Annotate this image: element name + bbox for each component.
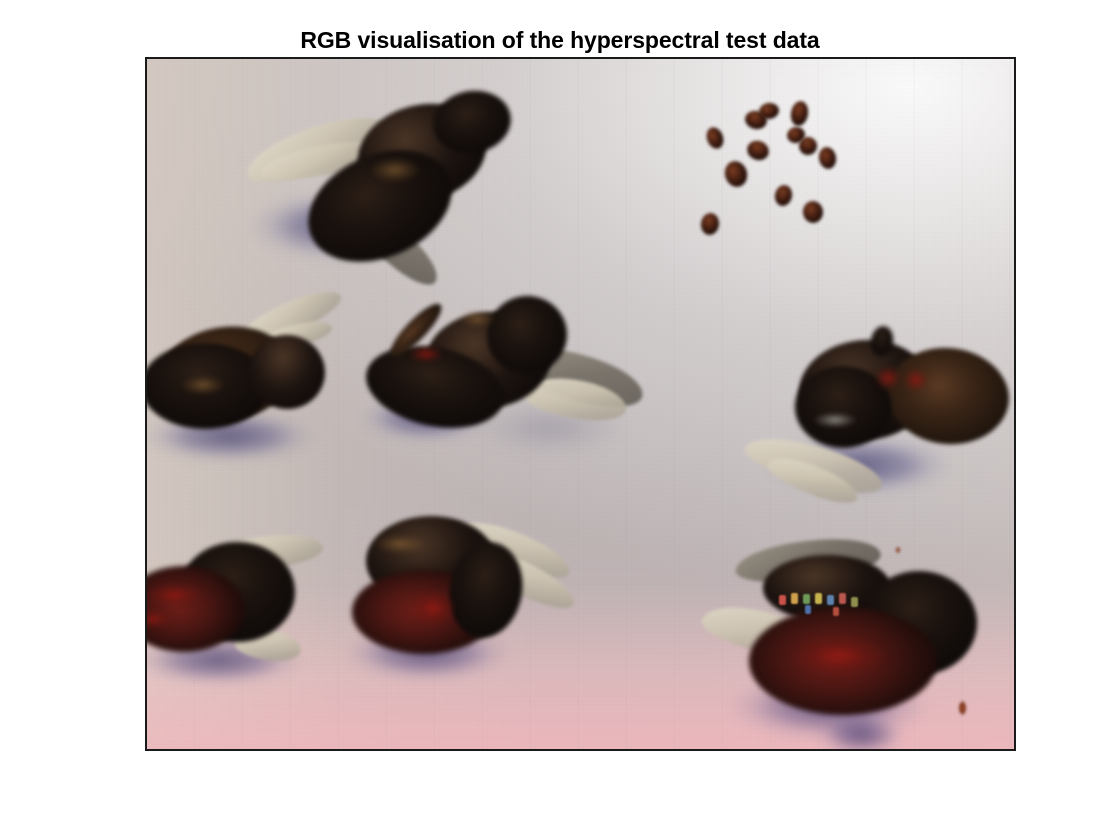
bee-bottom-left xyxy=(147,514,357,704)
bee-center xyxy=(347,274,647,474)
pellet xyxy=(704,125,727,151)
iridescent-speckle xyxy=(779,595,786,605)
bee-eye-highlight xyxy=(903,368,929,392)
iridescent-speckle xyxy=(851,597,858,607)
bee-highlight xyxy=(409,346,443,362)
bee-highlight xyxy=(374,534,426,554)
bee-highlight xyxy=(181,375,225,395)
iridescent-speckle xyxy=(833,607,839,616)
pellet xyxy=(700,212,721,236)
bee-eye-highlight xyxy=(875,366,901,390)
bee-highlight xyxy=(459,310,495,328)
rgb-composite-image xyxy=(147,59,1014,749)
bee-bottom-center xyxy=(332,494,592,704)
bee-highlight xyxy=(410,590,456,626)
bee-highlight xyxy=(147,584,203,606)
figure-container: RGB visualisation of the hyperspectral t… xyxy=(0,0,1120,840)
bee-highlight xyxy=(813,412,857,428)
pellet xyxy=(744,138,772,164)
bee-mid-right xyxy=(737,304,1014,524)
iridescent-speckle xyxy=(805,605,811,614)
pellet xyxy=(773,183,794,207)
iridescent-speckle xyxy=(839,593,846,604)
bee-bottom-right xyxy=(687,527,987,749)
iridescent-speckle xyxy=(815,593,822,604)
pellet xyxy=(789,100,810,128)
pellet-cluster xyxy=(687,89,907,269)
pellet xyxy=(817,146,838,171)
pellet xyxy=(802,200,824,224)
page-title: RGB visualisation of the hyperspectral t… xyxy=(0,27,1120,54)
image-axes-frame xyxy=(145,57,1016,751)
stray-speck xyxy=(958,700,967,716)
iridescent-speckle xyxy=(803,594,810,604)
bee-mid-left xyxy=(147,291,377,481)
pellet xyxy=(722,158,750,189)
bee-shadow xyxy=(817,713,905,749)
stray-speck xyxy=(895,546,901,554)
bee-highlight xyxy=(791,635,887,677)
iridescent-speckle xyxy=(827,595,834,605)
iridescent-speckle xyxy=(791,593,798,604)
bee-highlight xyxy=(369,157,421,183)
